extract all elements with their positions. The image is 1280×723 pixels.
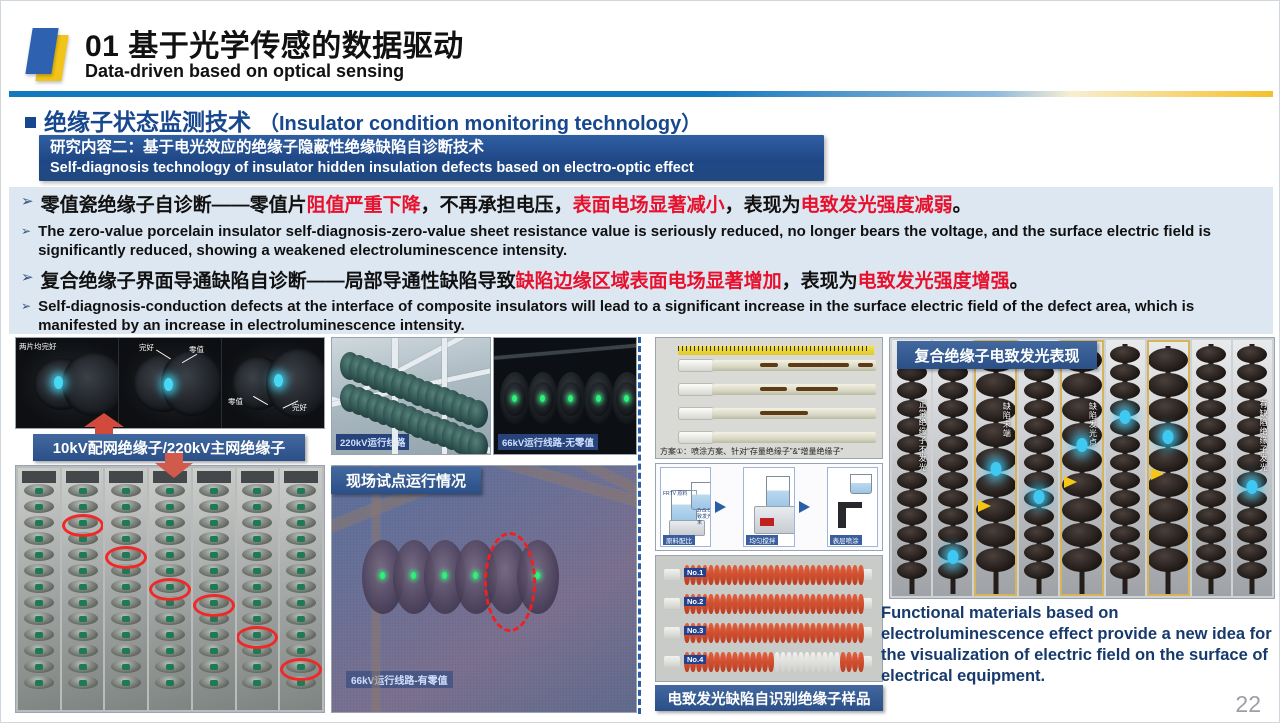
shed-cap [253, 520, 261, 526]
shed-cap [122, 488, 130, 494]
insulator-shed [1237, 364, 1267, 381]
insulator-shed [1196, 508, 1226, 525]
photo-annotation: 两片均完好 [19, 341, 57, 352]
spray-gun-icon [838, 502, 862, 508]
shed-cap [79, 616, 87, 622]
shed-cap [122, 600, 130, 606]
defect-pointer-arrow-icon [1151, 468, 1164, 480]
sample-end-fitting [664, 598, 680, 609]
material-label: FRTV 原料 [663, 490, 687, 497]
insulator-shed [1148, 498, 1188, 522]
cap-fitting [197, 471, 231, 483]
shed-cap [79, 648, 87, 654]
process-step-box: 表层喷涂 [827, 467, 878, 547]
beaker-icon [766, 476, 790, 508]
tape-tick [774, 346, 775, 351]
tape-tick [806, 346, 807, 351]
shed-cap [122, 584, 130, 590]
shed-cap [122, 616, 130, 622]
insulator-shed [1237, 562, 1267, 579]
tape-tick [846, 346, 847, 351]
shed-cap [35, 504, 43, 510]
electroluminescence-glow [274, 374, 283, 387]
shed-cap [35, 616, 43, 622]
tape-tick [854, 346, 855, 351]
insulator-string-photo [105, 468, 147, 710]
bullet-2-en: Self-diagnosis-conduction defects at the… [38, 297, 1263, 335]
electroluminescence-glow [568, 395, 573, 402]
tape-tick [834, 346, 835, 351]
shed-cap [253, 680, 261, 686]
insulator-shed [1196, 346, 1226, 363]
sample-shed [858, 594, 864, 614]
composite-insulator-el-panel: 正常绝缘子不发光缺陷末端缺陷发光点有缺陷绝缘子发光 [889, 337, 1275, 599]
insulator-shed [897, 544, 927, 561]
insulator-string-photo [237, 468, 279, 710]
insulator-shed [938, 436, 968, 453]
shed-cap [210, 488, 218, 494]
rod-end-fitting [678, 359, 714, 372]
process-step-label: 原料配比 [663, 535, 695, 545]
shed-cap [297, 568, 305, 574]
shed-cap [297, 616, 305, 622]
tape-tick [762, 346, 763, 351]
tape-tick [682, 346, 683, 351]
shed-cap [210, 648, 218, 654]
composite-insulator-photo [1106, 340, 1145, 596]
cap-fitting [66, 471, 100, 483]
stirrer-display [760, 518, 774, 526]
electroluminescence-glow [512, 395, 517, 402]
body-text-block: ➢ 零值瓷绝缘子自诊断——零值片阻值严重下降，不再承担电压，表面电场显著减小，表… [9, 187, 1273, 334]
rod-burn-mark [858, 363, 873, 367]
tape-tick [710, 346, 711, 351]
insulator-shed [1062, 498, 1102, 522]
tape-tick [802, 346, 803, 351]
insulator-shed [1110, 382, 1140, 399]
plain-text: 零值瓷绝缘子自诊断——零值片 [41, 195, 307, 216]
tape-tick [694, 346, 695, 351]
insulator-shed [1110, 508, 1140, 525]
tape-tick [718, 346, 719, 351]
page-number: 22 [1235, 691, 1261, 718]
header-gradient-rule [9, 91, 1273, 97]
rod-burn-mark [760, 363, 778, 367]
research-topic-banner: 研究内容二：基于电光效应的绝缘子隐蔽性绝缘缺陷自诊断技术 Self-diagno… [39, 135, 824, 181]
shed-cap [253, 552, 261, 558]
shed-cap [35, 600, 43, 606]
tape-tick [782, 346, 783, 351]
photo-annotation: 正常绝缘子不发光 [917, 400, 928, 472]
photo-annotation: 完好 [292, 402, 307, 413]
insulator-shed [1024, 436, 1054, 453]
arrow-bullet-icon: ➢ [21, 222, 31, 260]
shed-cap [35, 632, 43, 638]
insulator-shed [1110, 364, 1140, 381]
arrow-bullet-icon: ➢ [21, 193, 34, 219]
tape-tick [714, 346, 715, 351]
insulator-shed [938, 454, 968, 471]
insulator-shed [897, 526, 927, 543]
shed-cap [297, 488, 305, 494]
shed-cap [253, 504, 261, 510]
tape-tick [730, 346, 731, 351]
insulator-string-photo [149, 468, 191, 710]
sample-number-badge: No.3 [684, 626, 706, 635]
bullet-1-en: The zero-value porcelain insulator self-… [38, 222, 1263, 260]
composite-insulator-photo [1192, 340, 1231, 596]
composite-insulator-photo: 缺陷发光点 [1060, 340, 1103, 596]
shed-cap [35, 664, 43, 670]
dark-photo-cell: 完好零值 [119, 338, 222, 428]
sample-shed [858, 652, 864, 672]
insulator-shed [897, 562, 927, 579]
insulator-shed [1196, 400, 1226, 417]
shed-cap [210, 568, 218, 574]
shed-cap [122, 632, 130, 638]
insulator-shed [938, 382, 968, 399]
tape-tick [754, 346, 755, 351]
square-bullet-icon [25, 117, 36, 128]
shed-cap [122, 536, 130, 542]
insulator-shed [938, 418, 968, 435]
insulator-shed [1196, 526, 1226, 543]
tape-tick [862, 346, 863, 351]
sample-shed [858, 565, 864, 585]
shed-cap [297, 504, 305, 510]
insulator-shed [1110, 346, 1140, 363]
shed-cap [122, 680, 130, 686]
insulator-shed [1062, 373, 1102, 397]
insulator-shed [1024, 382, 1054, 399]
plain-text: 。 [953, 195, 972, 216]
shed-cap [210, 632, 218, 638]
conclusion-text: Functional materials based on electrolum… [881, 603, 1280, 687]
insulator-shed [1196, 544, 1226, 561]
shed-cap [166, 648, 174, 654]
insulator-string-photo [18, 468, 60, 710]
measuring-tape [678, 346, 874, 355]
tape-tick [750, 346, 751, 351]
tape-tick [842, 346, 843, 351]
insulator-shed [976, 373, 1016, 397]
shed-cap [297, 536, 305, 542]
bullet-2-cn: 复合绝缘子界面导通缺陷自诊断——局部导通性缺陷导致缺陷边缘区域表面电场显著增加，… [41, 269, 1029, 295]
highlight-text: 缺陷边缘区域表面电场显著增加 [516, 271, 782, 292]
shed-cap [210, 664, 218, 670]
tape-tick [818, 346, 819, 351]
rod-burn-mark [796, 387, 838, 391]
shed-cap [35, 648, 43, 654]
tape-tick [742, 346, 743, 351]
insulator-shed [976, 473, 1016, 497]
sample-end-fitting [664, 569, 680, 580]
coating-process-diagram: FRTV 原料ZnS:Cu 电致发光粉末原料配比均匀搅拌表层喷涂 [655, 463, 883, 551]
shed-cap [122, 648, 130, 654]
composite-insulator-photo [933, 340, 972, 596]
process-step-box: 均匀搅拌 [743, 467, 794, 547]
shed-cap [35, 584, 43, 590]
shed-cap [253, 568, 261, 574]
caption-66kv-with-zero: 66kV运行线路-有零值 [346, 671, 453, 688]
insulator-string-photo [193, 468, 235, 710]
sample-number-badge: No.2 [684, 597, 706, 606]
tape-tick [746, 346, 747, 351]
rod-burn-mark [760, 411, 808, 415]
insulator-shed [1196, 562, 1226, 579]
shed-cap [35, 552, 43, 558]
electroluminescence-glow [596, 395, 601, 402]
insulator-shed [468, 432, 488, 455]
tape-tick [770, 346, 771, 351]
shed-cap [79, 664, 87, 670]
insulator-shed [1196, 472, 1226, 489]
electroluminescence-glow [380, 572, 385, 579]
shed-cap [166, 520, 174, 526]
shed-cap [297, 520, 305, 526]
shed-cap [79, 632, 87, 638]
insulator-shed [1110, 454, 1140, 471]
insulator-shed [1148, 398, 1188, 422]
shed-cap [166, 664, 174, 670]
shed-cap [79, 488, 87, 494]
insulator-shed [1024, 526, 1054, 543]
shed-cap [79, 600, 87, 606]
electroluminescence-glow [411, 572, 416, 579]
defect-highlight-circle [149, 578, 191, 601]
composite-insulator-photo: 正常绝缘子不发光 [892, 340, 931, 596]
shed-cap [166, 488, 174, 494]
composite-insulator-photo [1147, 340, 1190, 596]
photo-insulator-samples: No.1No.2No.3No.4 [655, 555, 883, 682]
shed-cap [297, 648, 305, 654]
cap-fitting [22, 471, 56, 483]
insulator-shed [1148, 523, 1188, 547]
photo-annotation: 有缺陷绝缘子发光 [1258, 400, 1269, 472]
bullet-1-cn-row: ➢ 零值瓷绝缘子自诊断——零值片阻值严重下降，不再承担电压，表面电场显著减小，表… [21, 193, 1263, 219]
insulator-shed [1196, 454, 1226, 471]
section-title-en: （Insulator condition monitoring technolo… [259, 107, 701, 136]
electroluminescence-glow [164, 378, 173, 391]
insulator-shed [938, 526, 968, 543]
electroluminescence-glow [442, 572, 447, 579]
composite-insulator-photo: 缺陷末端 [974, 340, 1017, 596]
insulator-shed [1196, 490, 1226, 507]
photo-220kv-line: 220kV运行线路 [331, 337, 491, 455]
electroluminescence-glow [1033, 490, 1044, 504]
tape-tick [722, 346, 723, 351]
insulator-shed [1196, 364, 1226, 381]
shed-cap [35, 488, 43, 494]
insulator-shed [1024, 418, 1054, 435]
insulator-shed [1148, 373, 1188, 397]
tape-tick [690, 346, 691, 351]
rods-note: 方案①：喷涂方案、针对“存量绝缘子”&“增量绝缘子” [660, 446, 843, 457]
electroluminescence-glow [624, 395, 629, 402]
insulator-shed [1062, 548, 1102, 572]
bullet-1-en-row: ➢ The zero-value porcelain insulator sel… [21, 222, 1263, 260]
shed-cap [297, 600, 305, 606]
page-title-cn: 01 基于光学传感的数据驱动 [85, 21, 464, 65]
insulator-rod [712, 384, 876, 395]
insulator-shed [1024, 508, 1054, 525]
shed-cap [79, 504, 87, 510]
shed-cap [122, 504, 130, 510]
plain-text: ，不再承担电压， [421, 195, 573, 216]
tape-tick [814, 346, 815, 351]
insulator-shed [1110, 544, 1140, 561]
shed-cap [297, 584, 305, 590]
tape-tick [790, 346, 791, 351]
banner-line-cn: 研究内容二：基于电光效应的绝缘子隐蔽性绝缘缺陷自诊断技术 [50, 138, 824, 158]
arrow-bullet-icon: ➢ [21, 269, 34, 295]
sample-shed [858, 623, 864, 643]
rod-end-fitting [678, 431, 714, 444]
defect-highlight-circle [62, 514, 104, 537]
sample-number-badge: No.4 [684, 655, 706, 664]
insulator-shed [1024, 454, 1054, 471]
tape-tick [794, 346, 795, 351]
insulator-shed [897, 490, 927, 507]
photo-defective-rods: 方案①：喷涂方案、针对“存量绝缘子”&“增量绝缘子” [655, 337, 883, 459]
tape-tick [702, 346, 703, 351]
tape-tick [678, 346, 679, 351]
label-el-sample: 电致发光缺陷自识别绝缘子样品 [655, 685, 883, 711]
caption-220kv: 220kV运行线路 [336, 434, 409, 450]
sample-end-fitting [664, 656, 680, 667]
shed-cap [253, 488, 261, 494]
bullet-2-en-row: ➢ Self-diagnosis-conduction defects at t… [21, 297, 1263, 335]
electroluminescence-glow [473, 572, 478, 579]
highlight-text: 表面电场显著减小 [573, 195, 725, 216]
shed-cap [35, 680, 43, 686]
process-step-label: 表层喷涂 [830, 535, 862, 545]
tape-tick [826, 346, 827, 351]
shed-cap [166, 536, 174, 542]
plain-text: ，表现为 [782, 271, 858, 292]
banner-line-en: Self-diagnosis technology of insulator h… [50, 158, 824, 178]
electroluminescence-glow [1163, 430, 1174, 444]
photo-annotation: 零值 [228, 396, 243, 407]
down-arrow-icon [155, 453, 193, 479]
tape-tick [758, 346, 759, 351]
electroluminescence-glow [1247, 480, 1258, 494]
defect-highlight-circle [484, 532, 536, 632]
shed-cap [79, 552, 87, 558]
label-composite-el: 复合绝缘子电致发光表现 [897, 341, 1097, 369]
insulator-shed [1196, 382, 1226, 399]
insulator-shed [1110, 490, 1140, 507]
insulator-shed [1110, 472, 1140, 489]
tape-tick [866, 346, 867, 351]
company-logo-mark [25, 23, 81, 79]
electroluminescence-glow [54, 376, 63, 389]
dark-photo-cell: 零值完好 [222, 338, 324, 428]
shed-cap [210, 552, 218, 558]
tape-tick [858, 346, 859, 351]
insulator-shed [1024, 400, 1054, 417]
insulator-shed [1237, 508, 1267, 525]
shed-cap [297, 632, 305, 638]
bullet-1-cn: 零值瓷绝缘子自诊断——零值片阻值严重下降，不再承担电压，表面电场显著减小，表现为… [41, 193, 972, 219]
shed-cap [210, 680, 218, 686]
insulator-shed [1196, 418, 1226, 435]
shed-cap [79, 584, 87, 590]
plain-text: ，表现为 [725, 195, 801, 216]
sample-end-fitting [664, 627, 680, 638]
shed-cap [253, 536, 261, 542]
shed-cap [210, 504, 218, 510]
photo-field-pilot: 66kV运行线路-有零值 [331, 465, 637, 713]
plain-text: 。 [1010, 271, 1029, 292]
shed-cap [253, 584, 261, 590]
tape-tick [810, 346, 811, 351]
photo-annotation: 缺陷末端 [1001, 402, 1012, 438]
shed-cap [210, 520, 218, 526]
cap-fitting [241, 471, 275, 483]
dark-el-photo-strip: 两片均完好完好零值零值完好 [15, 337, 325, 429]
defect-highlight-circle [105, 546, 147, 569]
insulator-shed [1024, 562, 1054, 579]
section-title-cn: 绝缘子状态监测技术 [44, 103, 251, 137]
tape-tick [778, 346, 779, 351]
tape-tick [798, 346, 799, 351]
insulator-shed [1110, 562, 1140, 579]
insulator-shed [1062, 523, 1102, 547]
composite-insulator-photo: 有缺陷绝缘子发光 [1233, 340, 1272, 596]
insulator-rod [712, 432, 876, 443]
tape-tick [698, 346, 699, 351]
tape-tick [766, 346, 767, 351]
rod-end-fitting [678, 407, 714, 420]
electroluminescence-glow [990, 462, 1001, 476]
shed-cap [166, 680, 174, 686]
shed-cap [166, 504, 174, 510]
insulator-shed [1024, 472, 1054, 489]
insulator-shed [976, 523, 1016, 547]
figure-area: 两片均完好完好零值零值完好 10kV配网绝缘子/220kV主网绝缘子 220kV… [9, 335, 1273, 716]
insulator-string-photo [62, 468, 104, 710]
electroluminescence-glow [1076, 438, 1087, 452]
tape-tick [822, 346, 823, 351]
shed-cap [253, 616, 261, 622]
insulator-shed [897, 382, 927, 399]
beaker-icon [691, 482, 711, 510]
process-step-label: 均匀搅拌 [746, 535, 778, 545]
shed-cap [35, 536, 43, 542]
shed-cap [253, 664, 261, 670]
defect-pointer-arrow-icon [978, 500, 991, 512]
shed-cap [166, 568, 174, 574]
cap-fitting [284, 471, 318, 483]
slide-header: 01 基于光学传感的数据驱动 Data-driven based on opti… [1, 1, 1280, 91]
plain-text: 复合绝缘子界面导通缺陷自诊断——局部导通性缺陷导致 [41, 271, 516, 292]
cap-fitting [109, 471, 143, 483]
insulator-shed [1237, 544, 1267, 561]
rod-burn-mark [788, 363, 824, 367]
insulator-shed [897, 508, 927, 525]
shed-cap [79, 568, 87, 574]
shed-cap [210, 536, 218, 542]
insulator-shed [1237, 526, 1267, 543]
shed-cap [166, 552, 174, 558]
insulator-shed [938, 400, 968, 417]
insulator-shed [468, 400, 488, 428]
insulator-shed [1110, 436, 1140, 453]
shed-cap [210, 584, 218, 590]
defect-highlight-circle [237, 626, 279, 649]
insulator-string-defect-series [15, 465, 325, 713]
